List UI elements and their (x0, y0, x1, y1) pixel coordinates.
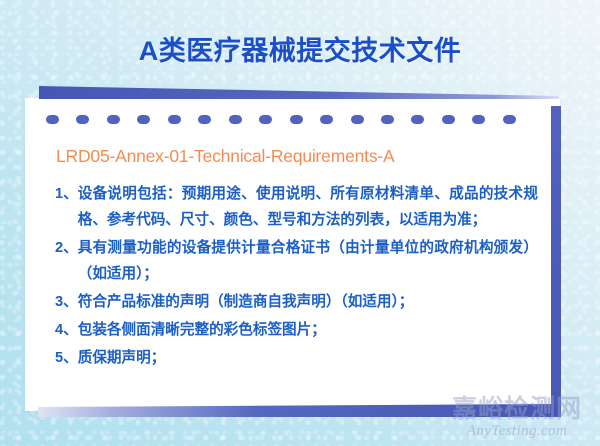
list-item-text: 质保期声明； (78, 345, 538, 371)
list-item-number: 1、 (55, 181, 78, 207)
list-item-text: 具有测量功能的设备提供计量合格证书（由计量单位的政府机构颁发）（如适用）； (78, 235, 538, 287)
list-item: 1、 设备说明包括：预期用途、使用说明、所有原材料清单、成品的技术规格、参考代码… (55, 181, 538, 233)
list-item-number: 3、 (55, 289, 78, 315)
list-item-number: 2、 (55, 235, 78, 261)
watermark-english: AnyTesting.com (452, 422, 582, 440)
list-item-number: 4、 (55, 317, 78, 343)
requirements-list: 1、 设备说明包括：预期用途、使用说明、所有原材料清单、成品的技术规格、参考代码… (55, 181, 538, 371)
page-title: A类医疗器械提交技术文件 (0, 29, 600, 68)
poster-canvas: A类医疗器械提交技术文件 (0, 0, 600, 446)
list-item-text: 包装各侧面清晰完整的彩色标签图片； (78, 317, 538, 343)
list-item: 5、 质保期声明； (55, 345, 538, 371)
list-item: 4、 包装各侧面清晰完整的彩色标签图片； (55, 317, 538, 343)
list-item: 3、 符合产品标准的声明（制造商自我声明）（如适用）； (55, 289, 538, 315)
list-item: 2、 具有测量功能的设备提供计量合格证书（由计量单位的政府机构颁发）（如适用）； (55, 235, 538, 287)
card-content: LRD05-Annex-01-Technical-Requirements-A … (25, 98, 560, 411)
list-item-text: 设备说明包括：预期用途、使用说明、所有原材料清单、成品的技术规格、参考代码、尺寸… (78, 181, 538, 233)
document-code: LRD05-Annex-01-Technical-Requirements-A (56, 146, 538, 167)
list-item-number: 5、 (55, 345, 78, 371)
list-item-text: 符合产品标准的声明（制造商自我声明）（如适用）； (78, 289, 538, 315)
